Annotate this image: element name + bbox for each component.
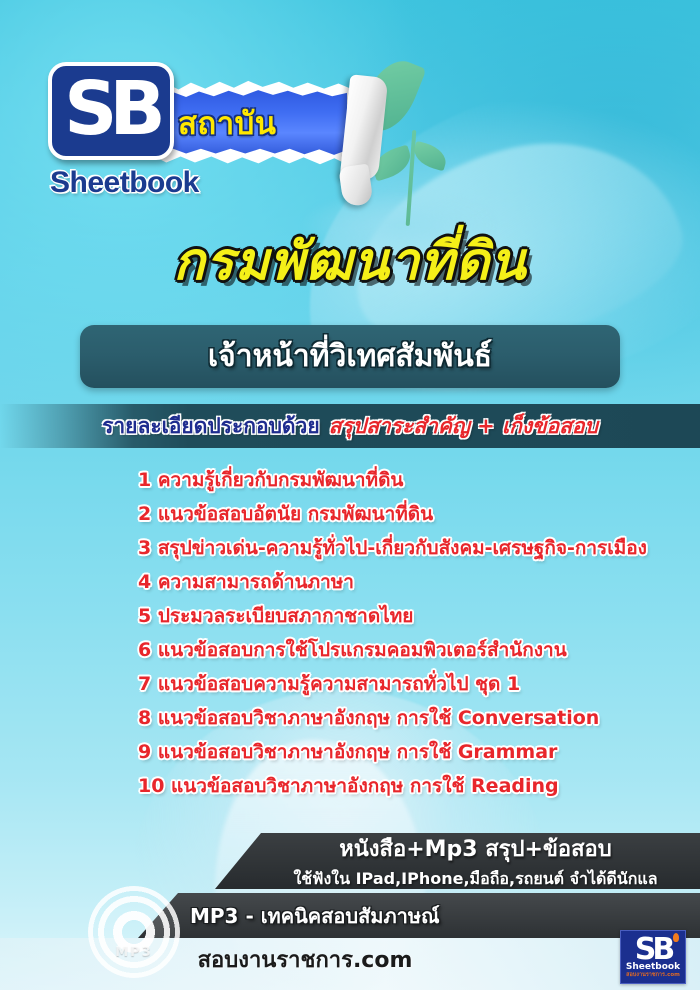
list-item: 9 แนวข้อสอบวิชาภาษาอังกฤษ การใช้ Grammar — [138, 735, 686, 769]
brand-wordmark: Sheetbook — [50, 166, 199, 200]
footer-logo-word: Sheetbook — [626, 963, 680, 973]
details-banner-plain: รายละเอียดประกอบด้วย — [102, 410, 320, 443]
book-cover: สถาบัน SB Sheetbook กรมพัฒนาที่ดิน เจ้าห… — [0, 0, 700, 990]
sb-monogram: SB — [48, 62, 174, 160]
list-item: 3 สรุปข่าวเด่น-ความรู้ทั่วไป-เกี่ยวกับสั… — [138, 531, 686, 565]
cd-disc-icon: MP3 — [88, 886, 180, 978]
brand-logo: สถาบัน SB Sheetbook — [48, 62, 368, 212]
list-item: 6 แนวข้อสอบการใช้โปรแกรมคอมพิวเตอร์สำนัก… — [138, 633, 686, 667]
mp3-banner-text: MP3 - เทคนิคสอบสัมภาษณ์ — [190, 900, 440, 932]
promo-banner: หนังสือ+Mp3 สรุป+ข้อสอบ ใช้ฟังใน IPad,IP… — [215, 833, 700, 889]
list-item: 8 แนวข้อสอบวิชาภาษาอังกฤษ การใช้ Convers… — [138, 701, 686, 735]
cd-disc-label: MP3 — [88, 945, 180, 960]
flame-icon — [673, 933, 679, 942]
list-item: 1 ความรู้เกี่ยวกับกรมพัฒนาที่ดิน — [138, 463, 686, 497]
sb-monogram-text: SB — [64, 72, 158, 146]
institute-label: สถาบัน — [156, 80, 361, 166]
page-title: กรมพัฒนาที่ดิน — [0, 236, 700, 288]
torn-paper-strip: สถาบัน — [156, 80, 361, 166]
footer-logo-monogram: SB — [635, 936, 671, 963]
list-item: 2 แนวข้อสอบอัตนัย กรมพัฒนาที่ดิน — [138, 497, 686, 531]
contents-list: 1 ความรู้เกี่ยวกับกรมพัฒนาที่ดิน 2 แนวข้… — [138, 463, 686, 803]
position-title: เจ้าหน้าที่วิเทศสัมพันธ์ — [208, 333, 492, 380]
list-item: 5 ประมวลระเบียบสภากาชาดไทย — [138, 599, 686, 633]
promo-subline: ใช้ฟังใน IPad,IPhone,มือถือ,รถยนต์ จำได้… — [293, 867, 657, 892]
promo-headline: หนังสือ+Mp3 สรุป+ข้อสอบ — [339, 831, 611, 866]
footer-logo-url: สอบงานราชการ.com — [626, 972, 680, 978]
details-banner: รายละเอียดประกอบด้วย สรุปสาระสำคัญ + เก็… — [0, 404, 700, 448]
mp3-banner: MP3 - เทคนิคสอบสัมภาษณ์ — [138, 893, 700, 938]
position-title-bar: เจ้าหน้าที่วิเทศสัมพันธ์ — [80, 325, 620, 388]
list-item: 4 ความสามารถด้านภาษา — [138, 565, 686, 599]
list-item: 10 แนวข้อสอบวิชาภาษาอังกฤษ การใช้ Readin… — [138, 769, 686, 803]
list-item: 7 แนวข้อสอบความรู้ความสามารถทั่วไป ชุด 1 — [138, 667, 686, 701]
footer-brand-logo: SB Sheetbook สอบงานราชการ.com — [620, 930, 686, 984]
details-banner-highlight: สรุปสาระสำคัญ + เก็งข้อสอบ — [329, 410, 598, 443]
